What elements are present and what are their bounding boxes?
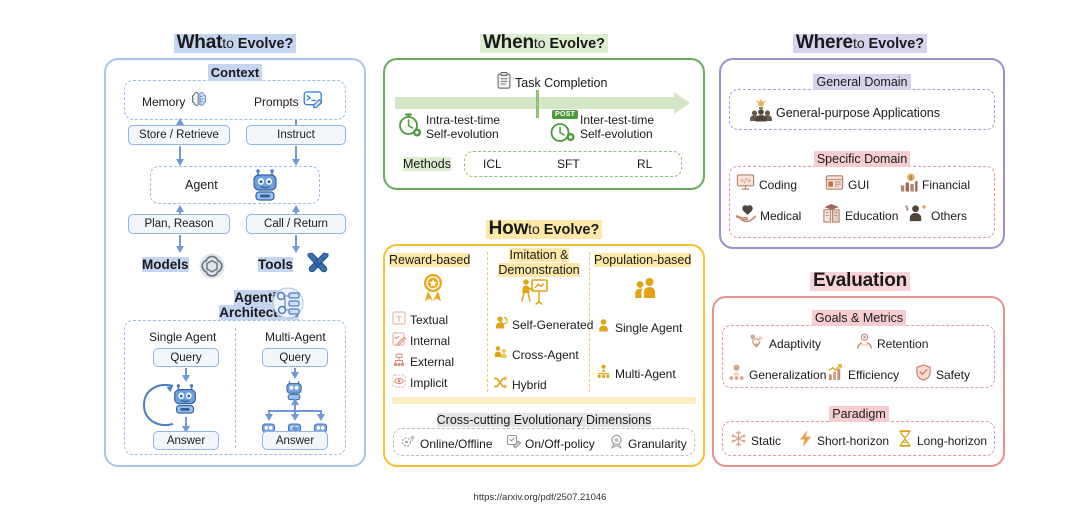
policy-gavel-icon (506, 434, 521, 453)
chip-call-return[interactable]: Call / Return (246, 214, 346, 234)
section-title-when: Whento Evolve? (388, 32, 700, 54)
people-group-icon (633, 276, 659, 306)
paradigm-static: Static (730, 430, 781, 451)
method-sft: SFT (557, 157, 580, 171)
chip-query-single[interactable]: Query (153, 348, 219, 367)
timeline-tick (536, 90, 539, 118)
two-people-icon (493, 345, 508, 364)
answer-label-single: Answer (167, 435, 205, 447)
prompts-label: Prompts (254, 95, 299, 109)
call-return-label: Call / Return (264, 218, 328, 230)
title-word-what: What (177, 32, 223, 53)
post-badge: POST (552, 110, 578, 119)
context-prompts: Prompts (254, 90, 325, 114)
heart-hand-icon (736, 204, 756, 227)
arrowhead-multi-root-up (291, 398, 299, 405)
specific-others: Others (905, 204, 967, 227)
query-label-single: Query (170, 352, 201, 364)
how-item-hybrid: Hybrid (493, 375, 547, 394)
single-agent-label: Single Agent (149, 330, 216, 344)
context-memory: Memory (142, 90, 209, 114)
specific-gui: GUI (825, 173, 869, 196)
single-person-icon (596, 318, 611, 337)
memory-label: Memory (142, 95, 185, 109)
title-word-evaluation: Evaluation (813, 270, 907, 291)
how-item-multi-agent: Multi-Agent (596, 364, 676, 383)
timeline-arrowhead (674, 92, 690, 114)
how-col-title-reward: Reward-based (389, 253, 470, 267)
how-divider-1 (487, 252, 488, 392)
book-graduation-icon (822, 204, 841, 228)
instruct-label: Instruct (277, 129, 315, 141)
paradigm-short-horizon: Short-horizon (798, 430, 889, 451)
terminal-prompt-icon (303, 90, 325, 114)
arrowhead-call-up (292, 205, 300, 212)
network-toggle-icon (401, 434, 416, 453)
title-word-how: How (489, 218, 529, 239)
lightning-icon (798, 430, 813, 451)
svg-text:T: T (396, 314, 402, 324)
general-purpose-row: General-purpose Applications (750, 99, 940, 127)
cross-cutting-label: Cross-cutting Evolutionary Dimensions (383, 413, 705, 427)
task-completion-row: Task Completion (497, 72, 607, 93)
arrowhead-single-query-down (182, 375, 190, 382)
stopwatch-gear-icon (397, 112, 423, 142)
brain-icon (189, 90, 209, 114)
group-label-general-domain: General Domain (803, 75, 921, 89)
snowflake-icon (730, 430, 747, 451)
group-label-context: Context (190, 65, 280, 80)
chip-plan-reason[interactable]: Plan, Reason (128, 214, 230, 234)
clipboard-icon (497, 72, 511, 93)
tools-label: Tools (258, 257, 293, 272)
chart-up-icon (827, 364, 844, 385)
goal-retention: Retention (856, 333, 928, 354)
how-item-textual: T Textual (392, 311, 448, 329)
chip-instruct[interactable]: Instruct (246, 125, 346, 145)
paradigm-long-horizon: Long-horizon (897, 430, 987, 451)
section-title-how: Howto Evolve? (388, 218, 700, 240)
self-loop-arrow (140, 378, 180, 432)
svg-text:</>: </> (740, 178, 751, 185)
section-title-where: Whereto Evolve? (715, 32, 1005, 54)
specific-coding: </> Coding (736, 173, 797, 196)
source-url: https://arxiv.org/pdf/2507.21046 (0, 492, 1080, 503)
recycle-dots-icon (748, 333, 765, 354)
cross-cutting-online-offline: Online/Offline (401, 434, 493, 453)
robot-icon (250, 168, 280, 206)
query-label-multi: Query (279, 352, 310, 364)
how-item-implicit: Implicit (392, 374, 447, 392)
specific-financial: $ Financial (899, 173, 970, 197)
group-label-paradigm: Paradigm (815, 407, 903, 421)
method-rl: RL (637, 157, 652, 171)
store-retrieve-label: Store / Retrieve (139, 129, 219, 141)
medal-icon (609, 434, 624, 453)
teacher-whiteboard-icon (519, 278, 549, 310)
how-item-self-generated: Self-Generated (493, 315, 593, 334)
task-completion-label: Task Completion (515, 76, 607, 90)
title-word-where: Where (796, 32, 853, 53)
architecture-gear-icon (271, 286, 305, 324)
cross-cutting-on-off-policy: On/Off-policy (506, 434, 595, 453)
org-chart-icon (596, 364, 611, 383)
award-rosette-icon (420, 272, 446, 306)
shuffle-icon (493, 375, 508, 394)
arrowhead-models-down (176, 246, 184, 253)
eye-target-icon (392, 374, 406, 392)
multi-agent-label: Multi-Agent (265, 330, 326, 344)
how-item-single-agent: Single Agent (596, 318, 682, 337)
title-word-when: When (483, 32, 534, 53)
clock-gear-icon (550, 122, 576, 148)
answer-label-multi: Answer (276, 435, 314, 447)
group-divider-agent-types (235, 328, 236, 448)
hourglass-icon (897, 430, 913, 451)
section-title-what: Whatto Evolve? (105, 32, 365, 54)
how-item-cross-agent: Cross-Agent (493, 345, 579, 364)
chip-query-multi[interactable]: Query (262, 348, 328, 367)
general-purpose-label: General-purpose Applications (776, 106, 940, 120)
how-divider-rule (392, 397, 696, 404)
how-col-title-population: Population-based (594, 253, 691, 267)
group-label-goals-metrics: Goals & Metrics (800, 311, 918, 325)
shield-check-icon (915, 364, 932, 385)
how-item-external: External (392, 353, 454, 371)
how-col-title-imitation: Imitation & Demonstration (495, 248, 583, 278)
finance-bars-icon: $ (899, 173, 918, 197)
agent-label: Agent (185, 178, 218, 192)
funnel-people-icon (728, 364, 745, 385)
specific-education: Education (822, 204, 898, 228)
models-label: Models (142, 257, 189, 272)
person-misc-icon (905, 204, 927, 227)
network-nodes-icon (392, 353, 406, 371)
plan-reason-label: Plan, Reason (144, 218, 213, 230)
arrowhead-plan-up (176, 205, 184, 212)
methods-label: Methods (403, 157, 451, 171)
goal-adaptivity: Adaptivity (748, 333, 821, 354)
cross-cutting-granularity: Granularity (609, 434, 687, 453)
intra-test-time-label: Intra-test-timeSelf-evolution (426, 113, 500, 141)
section-title-evaluation: Evaluation (715, 270, 1005, 292)
arrowhead-instruct-down (292, 159, 300, 166)
method-icl: ICL (483, 157, 502, 171)
checklist-pencil-icon (392, 332, 406, 350)
chip-store-retrieve[interactable]: Store / Retrieve (128, 125, 230, 145)
arrowhead-multi-query-down (291, 372, 299, 379)
chip-answer-multi[interactable]: Answer (262, 431, 328, 450)
wrench-screwdriver-icon (303, 250, 333, 284)
idea-people-icon (750, 99, 772, 127)
specific-medical: Medical (736, 204, 801, 227)
goal-generalization: Generalization (728, 364, 826, 385)
goal-efficiency: Efficiency (827, 364, 899, 385)
group-label-specific-domain: Specific Domain (803, 152, 921, 166)
group-agent (150, 166, 320, 204)
openai-logo-icon (198, 252, 226, 284)
how-item-internal: Internal (392, 332, 450, 350)
arrowhead-tools-down (292, 246, 300, 253)
arrowhead-memory-up (176, 118, 184, 125)
code-monitor-icon: </> (736, 173, 755, 196)
goal-safety: Safety (915, 364, 970, 385)
arrowhead-store-down (176, 159, 184, 166)
text-t-icon: T (392, 311, 406, 329)
hands-hold-icon (856, 333, 873, 354)
gui-window-icon (825, 173, 844, 196)
timeline-bar (395, 97, 675, 109)
chip-answer-single[interactable]: Answer (153, 431, 219, 450)
person-refresh-icon (493, 315, 508, 334)
inter-test-time-label: Inter-test-timeSelf-evolution (580, 113, 654, 141)
